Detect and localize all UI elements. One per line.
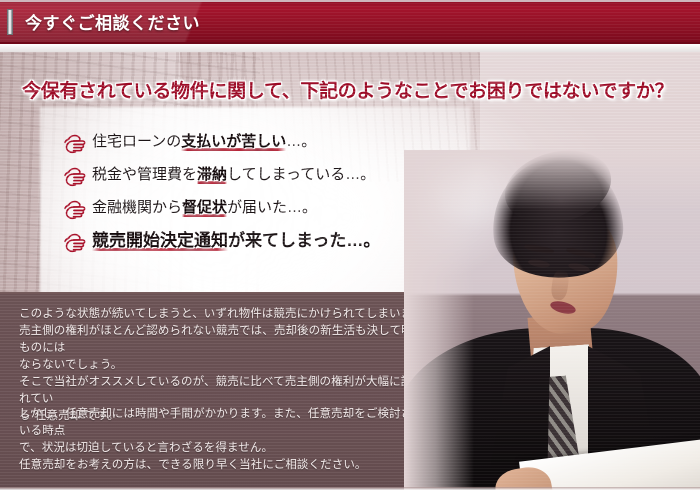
list-item-emphasis: 滞納 bbox=[197, 166, 227, 184]
promotional-banner: 今すぐご相談ください 今保有されている物件に関して、下記のようなことでお困りでは… bbox=[0, 0, 700, 499]
list-item-tail: してしまっている…。 bbox=[227, 166, 375, 183]
bottom-strip bbox=[0, 490, 700, 499]
list-item-emphasis: 支払いが苦しい bbox=[181, 133, 286, 151]
list-item-tail: が届いた…。 bbox=[227, 199, 317, 216]
header-separator bbox=[0, 44, 700, 52]
description-line: そこで当社がオススメしているのが、競売に比べて売主側の権利が大幅に認められてい bbox=[19, 374, 439, 408]
list-item-text: 競売開始決定通知が来てしまった…。 bbox=[92, 231, 380, 251]
photo-scanlines bbox=[404, 150, 700, 490]
list-item-emphasis: 督促状 bbox=[182, 199, 227, 217]
list-item-lead: 住宅ローンの bbox=[92, 133, 181, 150]
description-line: しかし、任意売却には時間や手間がかかります。また、任意売却をご検討されている時点 bbox=[19, 406, 439, 440]
description-line: ならないでしょう。 bbox=[19, 357, 439, 374]
list-item-text: 住宅ローンの支払いが苦しい…。 bbox=[92, 132, 316, 152]
header-top-edge bbox=[0, 0, 700, 2]
description-line: で、状況は切迫していると言わざるを得ません。 bbox=[19, 440, 439, 457]
pointing-hand-icon bbox=[62, 231, 92, 254]
header-title: 今すぐご相談ください bbox=[25, 9, 200, 34]
header-bar: 今すぐご相談ください bbox=[0, 0, 700, 44]
list-item-text: 金融機関から督促状が届いた…。 bbox=[92, 198, 317, 218]
hero-headline: 今保有されている物件に関して、下記のようなことでお困りではないですか？ bbox=[22, 76, 673, 103]
description-paragraph-2: しかし、任意売却には時間や手間がかかります。また、任意売却をご検討されている時点… bbox=[19, 406, 439, 474]
pointing-hand-icon bbox=[62, 165, 92, 188]
list-item-emphasis: 競売開始決定通知 bbox=[92, 231, 228, 251]
list-item-tail: が来てしまった…。 bbox=[228, 231, 380, 250]
description-line: このような状態が続いてしまうと、いずれ物件は競売にかけられてしまいます。 bbox=[19, 306, 439, 323]
header-accent-marker bbox=[7, 9, 13, 35]
list-item-lead: 税金や管理費を bbox=[92, 166, 197, 183]
list-item-tail: …。 bbox=[286, 133, 316, 150]
list-item-lead: 金融機関から bbox=[92, 199, 182, 216]
businessman-photo bbox=[404, 150, 700, 490]
description-line: 任意売却をお考えの方は、できる限り早く当社にご相談ください。 bbox=[19, 457, 439, 474]
list-item-text: 税金や管理費を滞納してしまっている…。 bbox=[92, 165, 375, 185]
pointing-hand-icon bbox=[62, 198, 92, 221]
description-line: 売主側の権利がほとんど認められない競売では、売却後の新生活も決して明るいものには bbox=[19, 323, 439, 357]
pointing-hand-icon bbox=[62, 132, 92, 155]
